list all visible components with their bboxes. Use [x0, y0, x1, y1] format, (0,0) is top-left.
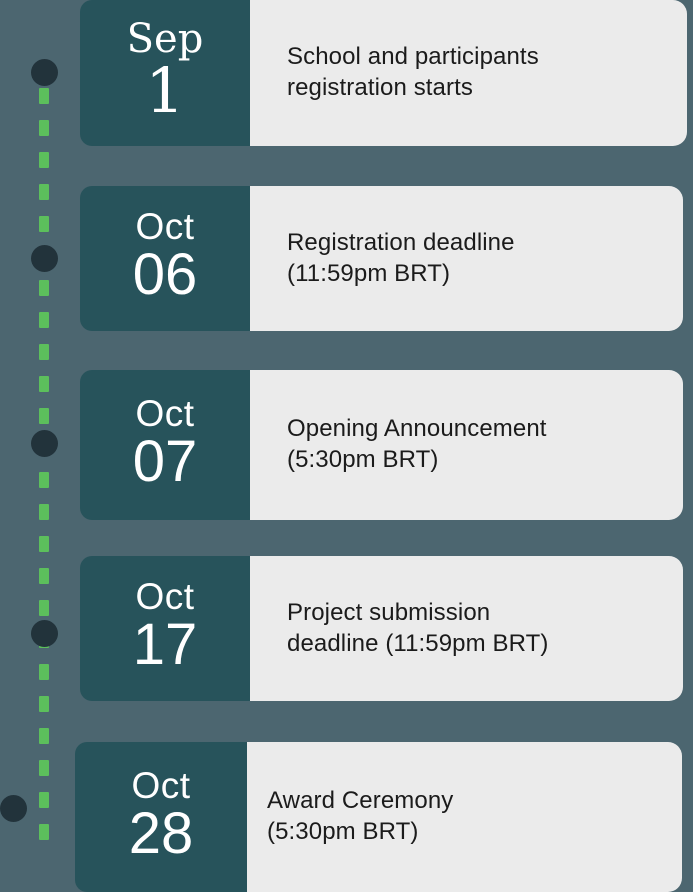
event-description: Opening Announcement (5:30pm BRT)	[287, 414, 547, 476]
event-day: 28	[129, 804, 194, 863]
event-day: 1	[145, 59, 184, 122]
event-description: Award Ceremony (5:30pm BRT)	[267, 786, 453, 848]
timeline-event-row[interactable]: Sep 1 School and participants registrati…	[80, 0, 687, 146]
timeline-node-dot[interactable]	[0, 795, 27, 822]
event-month: Sep	[127, 19, 204, 59]
event-description-panel: Opening Announcement (5:30pm BRT)	[250, 370, 683, 520]
event-day: 07	[133, 432, 198, 491]
event-date-badge: Oct 07	[80, 370, 250, 520]
rail-dash-segment	[39, 504, 49, 520]
rail-dash-segment	[39, 312, 49, 328]
rail-dash-segment	[39, 760, 49, 776]
event-description: School and participants registration sta…	[287, 42, 539, 104]
timeline-event-row[interactable]: Oct 06 Registration deadline (11:59pm BR…	[80, 186, 683, 331]
event-subtitle: registration starts	[287, 73, 539, 104]
event-day: 17	[133, 615, 198, 674]
rail-dash-segment	[39, 696, 49, 712]
event-date-badge: Oct 06	[80, 186, 250, 331]
event-date-badge: Oct 28	[75, 742, 247, 892]
timeline-rail	[39, 0, 49, 892]
rail-dash-segment	[39, 184, 49, 200]
event-subtitle: (5:30pm BRT)	[267, 817, 453, 848]
rail-dash-segment	[39, 280, 49, 296]
event-month: Oct	[135, 395, 194, 432]
timeline: Sep 1 School and participants registrati…	[0, 0, 693, 892]
event-subtitle: (5:30pm BRT)	[287, 445, 547, 476]
event-title: School and participants	[287, 43, 539, 70]
rail-dash-segment	[39, 728, 49, 744]
rail-dash-segment	[39, 664, 49, 680]
event-description: Project submission deadline (11:59pm BRT…	[287, 598, 548, 660]
timeline-node-dot[interactable]	[31, 430, 58, 457]
event-month: Oct	[135, 208, 194, 245]
rail-dash-segment	[39, 600, 49, 616]
rail-dash-segment	[39, 536, 49, 552]
timeline-event-row[interactable]: Oct 07 Opening Announcement (5:30pm BRT)	[80, 370, 683, 520]
event-description: Registration deadline (11:59pm BRT)	[287, 228, 515, 290]
event-description-panel: Project submission deadline (11:59pm BRT…	[250, 556, 683, 701]
timeline-node-dot[interactable]	[31, 620, 58, 647]
event-title: Registration deadline	[287, 229, 515, 256]
event-title: Opening Announcement	[287, 415, 547, 442]
event-subtitle: (11:59pm BRT)	[287, 259, 515, 290]
timeline-event-row[interactable]: Oct 17 Project submission deadline (11:5…	[80, 556, 683, 701]
event-description-panel: Award Ceremony (5:30pm BRT)	[247, 742, 682, 892]
rail-dash-segment	[39, 472, 49, 488]
timeline-node-dot[interactable]	[31, 245, 58, 272]
timeline-node-dot[interactable]	[31, 59, 58, 86]
event-title: Project submission	[287, 599, 490, 626]
rail-dash-segment	[39, 408, 49, 424]
event-month: Oct	[131, 767, 190, 804]
event-subtitle: deadline (11:59pm BRT)	[287, 629, 548, 660]
event-description-panel: School and participants registration sta…	[250, 0, 687, 146]
event-date-badge: Sep 1	[80, 0, 250, 146]
rail-dash-segment	[39, 120, 49, 136]
rail-dash-segment	[39, 568, 49, 584]
rail-dash-segment	[39, 344, 49, 360]
event-title: Award Ceremony	[267, 787, 453, 814]
rail-dash-segment	[39, 792, 49, 808]
event-date-badge: Oct 17	[80, 556, 250, 701]
event-month: Oct	[135, 578, 194, 615]
rail-dash-segment	[39, 376, 49, 392]
rail-dash-segment	[39, 824, 49, 840]
rail-dash-segment	[39, 216, 49, 232]
rail-dash-segment	[39, 88, 49, 104]
event-description-panel: Registration deadline (11:59pm BRT)	[250, 186, 683, 331]
rail-dash-segment	[39, 152, 49, 168]
event-day: 06	[133, 245, 198, 304]
timeline-event-row[interactable]: Oct 28 Award Ceremony (5:30pm BRT)	[75, 742, 682, 892]
